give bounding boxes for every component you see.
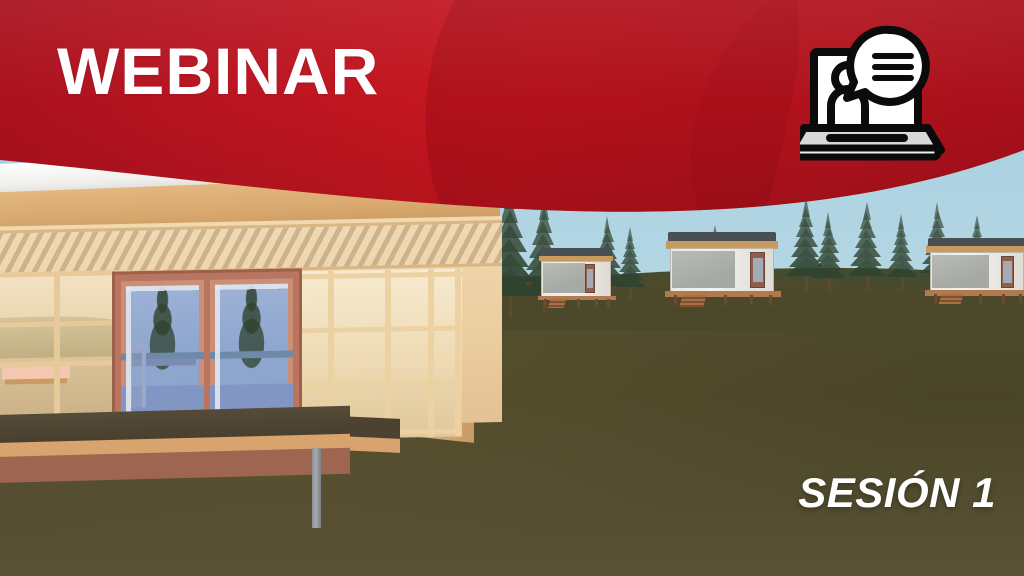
session-label: SESIÓN 1 xyxy=(798,472,996,514)
background-cabin xyxy=(540,248,612,306)
speech-bubble-icon xyxy=(847,30,926,102)
cabin-door xyxy=(750,252,765,288)
main-cabin-left-glazing xyxy=(0,270,130,434)
cabin-window xyxy=(543,263,585,293)
cabin-stairs xyxy=(547,299,565,308)
webinar-slide: WEBINAR xyxy=(0,0,1024,576)
laptop-base-icon xyxy=(800,128,941,157)
bubble-text-lines xyxy=(872,53,914,81)
webinar-laptop-icon xyxy=(800,22,950,168)
page-title: WEBINAR xyxy=(57,38,379,104)
background-cabin xyxy=(928,238,1024,302)
cabin-window xyxy=(672,251,735,288)
cabin-door xyxy=(585,264,595,293)
cabin-door xyxy=(1001,256,1015,288)
door-leaf-left xyxy=(121,280,204,431)
cabin-stairs xyxy=(679,295,706,307)
deck-support-post xyxy=(312,448,321,528)
background-cabin xyxy=(668,232,776,304)
cabin-window xyxy=(932,255,989,288)
cabin-stairs xyxy=(938,294,962,304)
